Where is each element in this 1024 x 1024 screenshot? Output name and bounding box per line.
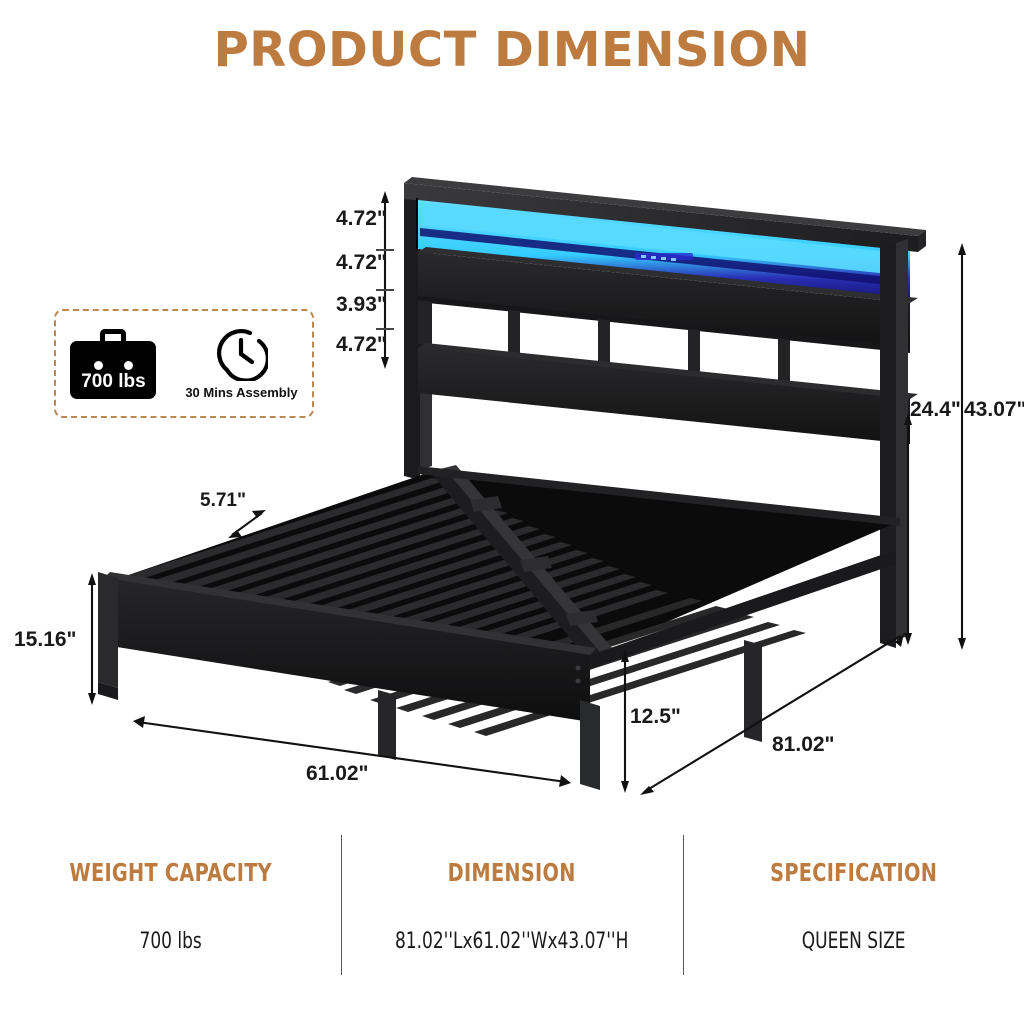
footer-heading-specification: SPECIFICATION bbox=[707, 858, 1001, 887]
dim-cubby-height: 3.93" bbox=[336, 293, 387, 317]
weight-capacity-badge: 700 lbs bbox=[70, 327, 156, 401]
footer-col-dimension: DIMENSION 81.02''Lx61.02''Wx43.07''H bbox=[341, 830, 682, 975]
dim-headboard-to-deck: 24.4" bbox=[910, 398, 961, 422]
dim-length: 81.02" bbox=[772, 733, 835, 757]
footer-col-weight-capacity: WEIGHT CAPACITY 700 lbs bbox=[0, 830, 341, 975]
headboard-left-post-lower bbox=[404, 440, 420, 480]
footer-value-specification: QUEEN SIZE bbox=[707, 929, 1001, 954]
footer-heading-dimension: DIMENSION bbox=[365, 858, 659, 887]
dim-slat-spacing: 5.71" bbox=[200, 490, 246, 512]
assembly-time-badge: 30 Mins Assembly bbox=[185, 327, 297, 400]
dim-led-shelf-height: 4.72" bbox=[336, 207, 387, 231]
dim-width: 61.02" bbox=[306, 762, 369, 786]
spec-footer: WEIGHT CAPACITY 700 lbs DIMENSION 81.02'… bbox=[0, 830, 1024, 975]
headboard-lower-panel bbox=[418, 343, 918, 444]
footer-value-dimension: 81.02''Lx61.02''Wx43.07''H bbox=[365, 929, 659, 954]
clock-icon bbox=[214, 327, 268, 381]
assembly-time-label: 30 Mins Assembly bbox=[185, 385, 297, 400]
footer-value-weight-capacity: 700 lbs bbox=[24, 929, 318, 954]
briefcase-icon: 700 lbs bbox=[70, 327, 156, 401]
product-dimension-infographic: PRODUCT DIMENSION bbox=[0, 0, 1024, 1024]
features-badge-box: 700 lbs 30 Mins Assembly bbox=[54, 309, 314, 418]
dim-frame-height-left: 15.16" bbox=[14, 628, 77, 652]
dim-total-height: 43.07" bbox=[964, 398, 1024, 422]
briefcase-capacity-label: 700 lbs bbox=[70, 371, 156, 393]
dim-lower-panel-height: 4.72" bbox=[336, 333, 387, 357]
footer-col-specification: SPECIFICATION QUEEN SIZE bbox=[683, 830, 1024, 975]
footer-heading-weight-capacity: WEIGHT CAPACITY bbox=[24, 858, 318, 887]
dim-upper-panel-height: 4.72" bbox=[336, 251, 387, 275]
dim-clearance-under-frame: 12.5" bbox=[630, 705, 681, 729]
